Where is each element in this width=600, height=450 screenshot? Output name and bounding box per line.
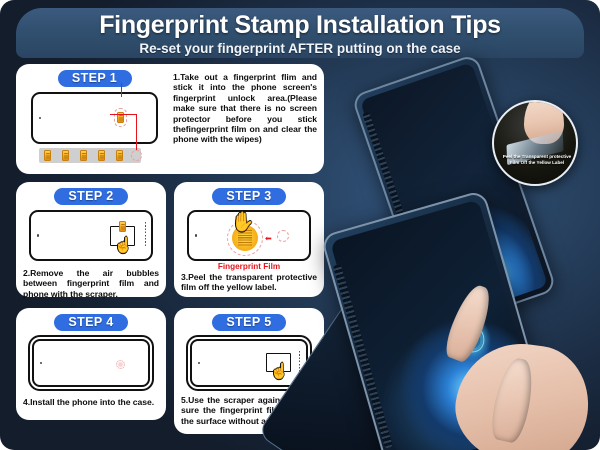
guide-line-horizontal (136, 114, 137, 150)
step-4-text: 4.Install the phone into the case. (23, 397, 159, 407)
camera-dot-icon (37, 234, 39, 236)
infographic-root: Fingerprint Stamp Installation Tips Re-s… (0, 0, 600, 450)
camera-dot-icon (198, 362, 200, 364)
fingerprint-stamp-icon (44, 150, 51, 161)
product-photo-area: Peel the Transparent protective Film Off… (330, 58, 600, 450)
camera-dot-icon (39, 117, 41, 119)
fingerprint-stamp-icon (62, 150, 69, 161)
fingerprint-stamp-icon (116, 150, 123, 161)
camera-dot-icon (40, 362, 42, 364)
inset-caption: Peel the Transparent protective Film Off… (499, 154, 575, 167)
step-card-1: STEP 1 (16, 64, 324, 174)
page-title: Fingerprint Stamp Installation Tips (16, 10, 584, 40)
step-card-2: STEP 2 ☝ 2.Remove the air bubbles betwee… (16, 182, 166, 297)
step-badge-5: STEP 5 (212, 314, 286, 331)
step-3-text: 3.Peel the transparent protective film o… (181, 272, 317, 293)
pressure-arrow-icon (145, 222, 146, 246)
detail-inset-circle: Peel the Transparent protective Film Off… (492, 100, 578, 186)
page-subtitle: Re-set your fingerprint AFTER putting on… (16, 40, 584, 58)
stamp-pickup-target (131, 150, 142, 161)
fingerprint-sensor-mark (116, 360, 125, 369)
step-badge-2: STEP 2 (54, 188, 128, 205)
protective-film-ring (277, 230, 289, 242)
guide-line-top (110, 114, 137, 115)
step-2-text: 2.Remove the air bubbles between fingerp… (23, 268, 159, 299)
step-card-3: STEP 3 ✋ ⬅ Fingerprint Film 3.Peel the t… (174, 182, 324, 297)
step-1-text: 1.Take out a fingerprint flim and stick … (173, 72, 317, 145)
pointing-hand-icon: ☝ (114, 238, 133, 253)
peel-arrow-icon: ⬅ (265, 234, 272, 243)
fingerprint-target-ring (114, 108, 127, 127)
header-panel: Fingerprint Stamp Installation Tips Re-s… (16, 8, 584, 58)
fingerprint-stamp-icon (98, 150, 105, 161)
fingerprint-stamp-icon (119, 221, 126, 232)
step-badge-3: STEP 3 (212, 188, 286, 205)
step-badge-4: STEP 4 (54, 314, 128, 331)
phone-diagram-1 (31, 92, 158, 144)
step-card-4: STEP 4 4.Install the phone into the case… (16, 308, 166, 420)
phone-diagram-3: ✋ ⬅ (187, 210, 311, 261)
phone-in-case-diagram-4 (32, 339, 150, 387)
phone-diagram-2: ☝ (29, 210, 153, 261)
fingerprint-film-label: Fingerprint Film (181, 262, 317, 271)
peeling-hand-icon: ✋ (231, 213, 255, 232)
fingerprint-stamp-icon (80, 150, 87, 161)
step-1-illustration: STEP 1 (23, 70, 166, 169)
camera-dot-icon (195, 234, 197, 236)
stamp-sheet-strip (39, 148, 141, 163)
guide-line-vertical (121, 83, 122, 97)
